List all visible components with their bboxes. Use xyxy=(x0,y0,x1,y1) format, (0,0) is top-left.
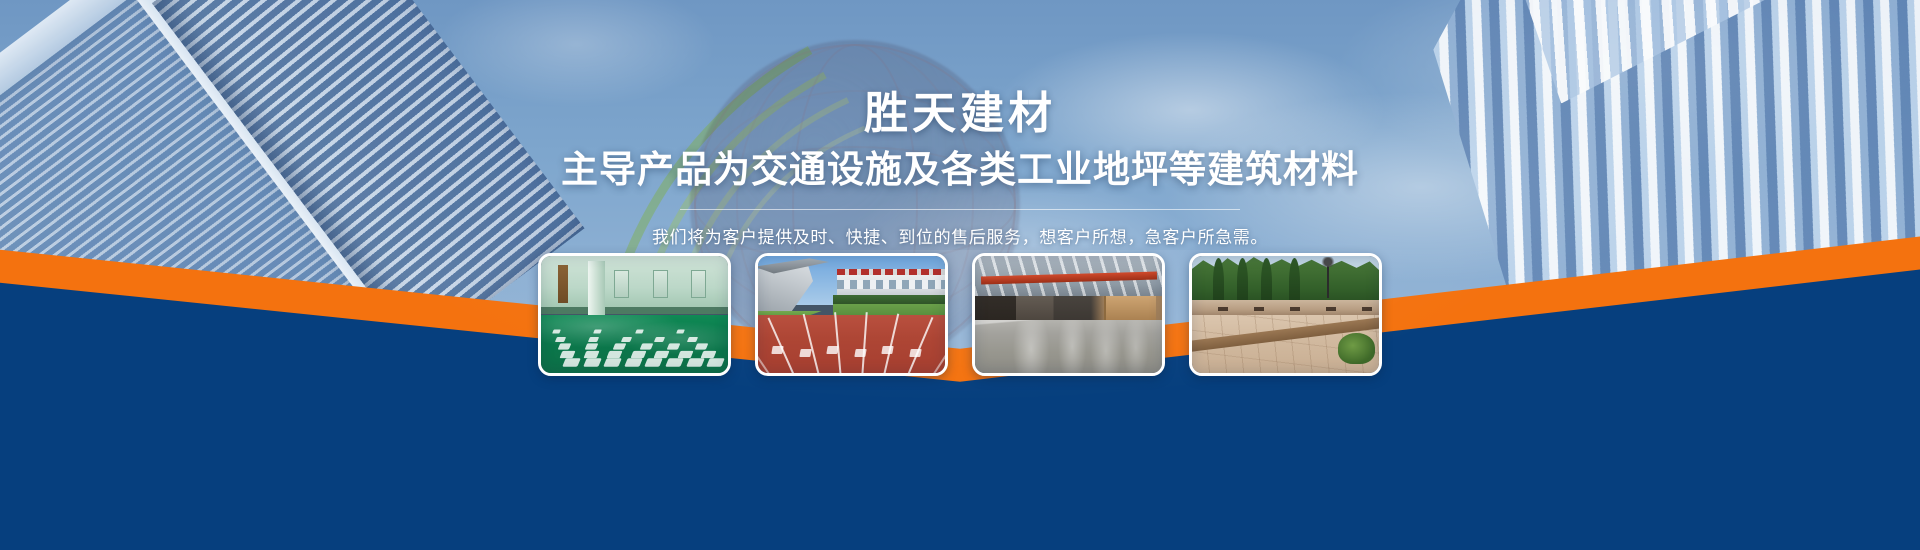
hero-banner: 胜天建材 主导产品为交通设施及各类工业地坪等建筑材料 我们将为客户提供及时、快捷… xyxy=(0,0,1920,550)
industrial-polished-floor-image xyxy=(975,256,1162,373)
banner-tagline: 我们将为客户提供及时、快捷、到位的售后服务，想客户所想，急客户所急需。 xyxy=(0,223,1920,248)
thumbnail-stamped-concrete-plaza[interactable] xyxy=(1189,253,1382,376)
red-running-track-image xyxy=(758,256,945,373)
hero-copy: 胜天建材 主导产品为交通设施及各类工业地坪等建筑材料 我们将为客户提供及时、快捷… xyxy=(0,88,1920,248)
thumbnail-industrial-polished-floor[interactable] xyxy=(972,253,1165,376)
banner-subtitle: 主导产品为交通设施及各类工业地坪等建筑材料 xyxy=(0,148,1920,192)
banner-title: 胜天建材 xyxy=(0,88,1920,140)
thumbnail-red-running-track[interactable] xyxy=(755,253,948,376)
green-epoxy-floor-image xyxy=(541,256,728,373)
stamped-concrete-plaza-image xyxy=(1192,256,1379,373)
thumbnail-strip xyxy=(0,253,1920,376)
divider-rule xyxy=(680,209,1240,210)
thumbnail-green-epoxy-floor[interactable] xyxy=(538,253,731,376)
